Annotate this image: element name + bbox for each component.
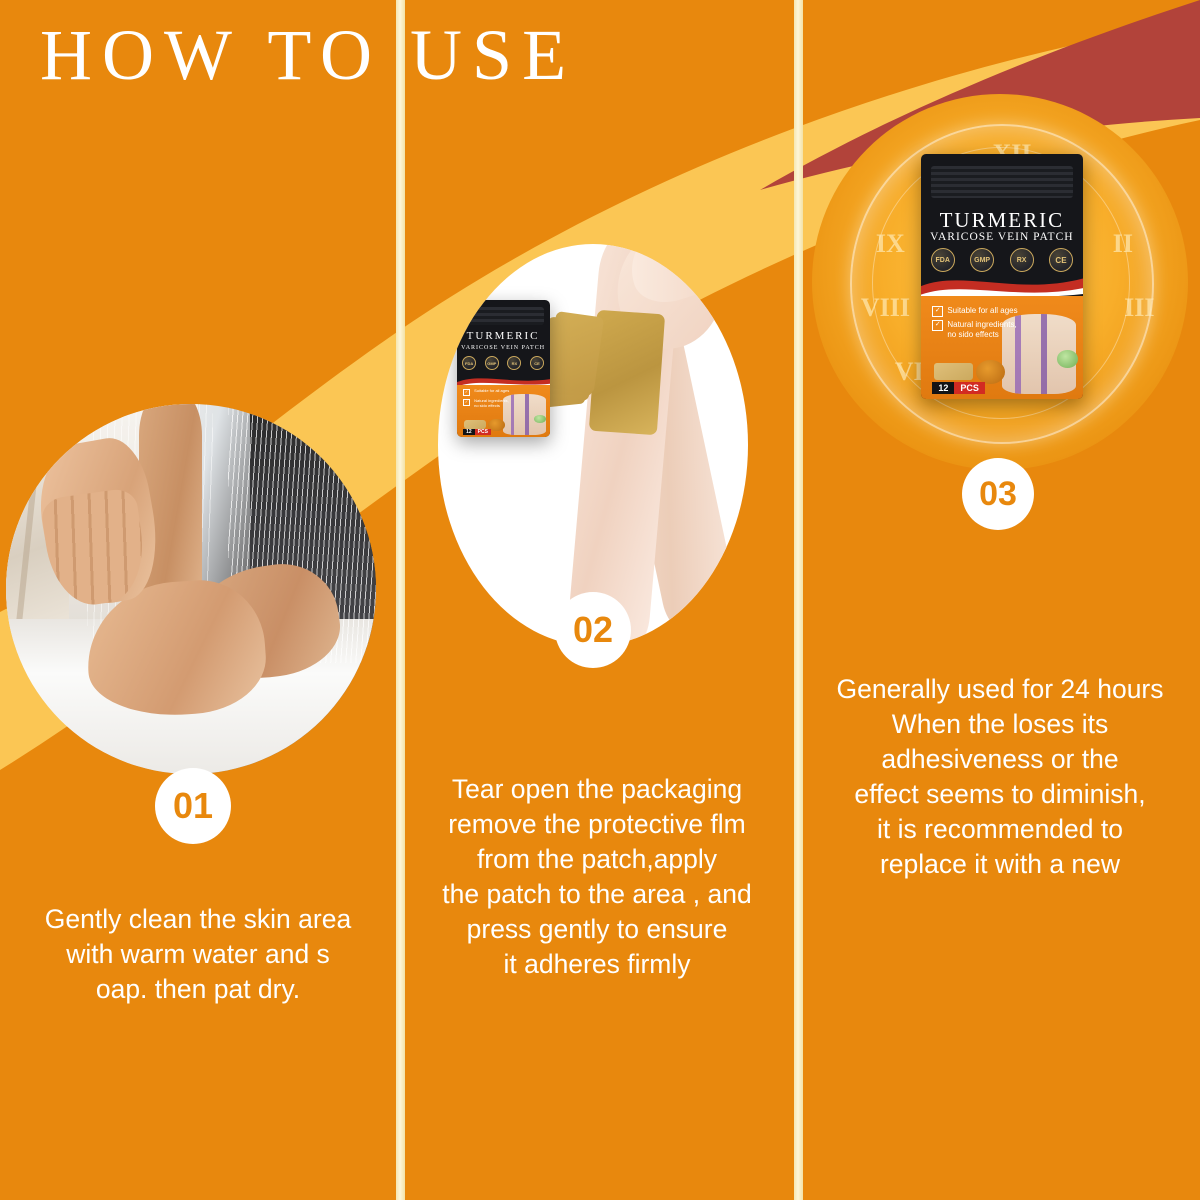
feature-item: ✓ Natural ingredients, no sido effects bbox=[932, 320, 1017, 340]
step-2-image: TURMERIC VARICOSE VEIN PATCH FDA GMP RX … bbox=[438, 244, 748, 646]
package-subtitle: VARICOSE VEIN PATCH bbox=[921, 231, 1083, 243]
feature-label: Natural ingredients, no sido effects bbox=[947, 320, 1016, 340]
step-2-number-badge: 02 bbox=[555, 592, 631, 668]
checkbox-icon: ✓ bbox=[932, 306, 943, 317]
count-unit: PCS bbox=[954, 382, 985, 394]
natural-leaf-badge bbox=[1057, 350, 1078, 367]
turmeric-root-thumbnail bbox=[976, 360, 1005, 385]
package-lower-panel: ✓ Suitable for all ages ✓ Natural ingred… bbox=[921, 296, 1083, 399]
feature-label: Suitable for all ages bbox=[474, 389, 509, 394]
package-count-badge: 12 PCS bbox=[463, 429, 491, 435]
column-divider-1 bbox=[396, 0, 405, 1200]
step-3-image: XII II III VIII IX VII TURMERIC VARICOSE… bbox=[812, 94, 1188, 470]
package-subtitle: VARICOSE VEIN PATCH bbox=[457, 345, 550, 351]
clock-numeral-ix: VIII bbox=[861, 293, 910, 323]
step-1-number-badge: 01 bbox=[155, 768, 231, 844]
package-feature-list: ✓ Suitable for all ages ✓ Natural ingred… bbox=[463, 389, 509, 412]
feature-label: Suitable for all ages bbox=[947, 306, 1017, 316]
step-3-caption: Generally used for 24 hours When the los… bbox=[804, 672, 1196, 882]
page-title: HOW TO USE bbox=[40, 14, 576, 97]
package-brand-name: TURMERIC bbox=[457, 330, 550, 342]
step-2-caption: Tear open the packaging remove the prote… bbox=[404, 772, 790, 982]
clock-numeral-x: IX bbox=[876, 229, 905, 259]
feature-item: ✓ Natural ingredients, no sido effects bbox=[463, 399, 509, 409]
shower-scene bbox=[6, 404, 376, 774]
product-package-small: TURMERIC VARICOSE VEIN PATCH FDA GMP RX … bbox=[457, 300, 550, 437]
product-package-large: TURMERIC VARICOSE VEIN PATCH FDA GMP RX … bbox=[921, 154, 1083, 398]
feature-label: Natural ingredients, no sido effects bbox=[474, 399, 509, 409]
patch-thumbnail bbox=[934, 363, 973, 380]
patch-sheet bbox=[546, 311, 604, 394]
checkbox-icon: ✓ bbox=[932, 320, 943, 331]
infographic-canvas: HOW TO USE 01 Gently clean the skin area… bbox=[0, 0, 1200, 1200]
count-unit: PCS bbox=[475, 429, 491, 435]
count-value: 12 bbox=[932, 382, 954, 394]
clock-numeral-ii: II bbox=[1113, 229, 1133, 259]
step-1-image bbox=[6, 404, 376, 774]
clock-numeral-iii: III bbox=[1124, 293, 1154, 323]
step-3-number-badge: 03 bbox=[962, 458, 1034, 530]
package-lower-panel: ✓ Suitable for all ages ✓ Natural ingred… bbox=[457, 385, 550, 437]
package-brand-name: TURMERIC bbox=[921, 208, 1083, 233]
package-zip-strip bbox=[462, 307, 544, 325]
feature-item: ✓ Suitable for all ages bbox=[463, 389, 509, 396]
package-feature-list: ✓ Suitable for all ages ✓ Natural ingred… bbox=[932, 306, 1017, 343]
patch-thumbnail bbox=[464, 420, 486, 428]
package-zip-strip bbox=[931, 166, 1073, 198]
package-count-badge: 12 PCS bbox=[932, 382, 985, 394]
checkbox-icon: ✓ bbox=[463, 389, 470, 396]
column-divider-2 bbox=[794, 0, 803, 1200]
checkbox-icon: ✓ bbox=[463, 399, 470, 406]
feature-item: ✓ Suitable for all ages bbox=[932, 306, 1017, 317]
count-value: 12 bbox=[463, 429, 475, 435]
white-backdrop: TURMERIC VARICOSE VEIN PATCH FDA GMP RX … bbox=[438, 244, 748, 646]
step-1-caption: Gently clean the skin area with warm wat… bbox=[4, 902, 392, 1007]
